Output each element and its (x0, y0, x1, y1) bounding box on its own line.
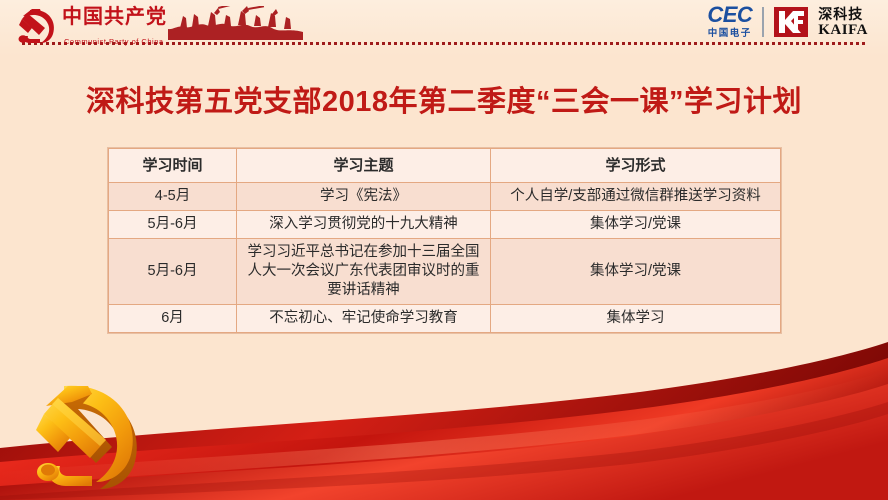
corporate-logo-group: CEC 中国电子 深科技 KAIFA (707, 4, 868, 40)
cell-topic: 学习习近平总书记在参加十三届全国人大一次会议广东代表团审议时的重要讲话精神 (237, 239, 491, 305)
revolutionary-crowd-silhouette-icon (168, 6, 303, 40)
logo-divider (762, 7, 764, 37)
cpc-name-chinese: 中国共产党 (62, 5, 167, 30)
table-header-row: 学习时间 学习主题 学习形式 (109, 149, 781, 183)
table-row: 5月-6月 学习习近平总书记在参加十三届全国人大一次会议广东代表团审议时的重要讲… (109, 239, 781, 305)
kaifa-name-chinese: 深科技 (818, 6, 868, 22)
kaifa-wordmark: 深科技 KAIFA (818, 6, 868, 39)
cec-chinese-name: 中国电子 (707, 27, 752, 40)
table-row: 5月-6月 深入学习贯彻党的十九大精神 集体学习/党课 (109, 211, 781, 239)
cpc-logo: 中国共产党 Communist Party of China (14, 5, 167, 51)
cell-form: 集体学习 (491, 305, 781, 333)
cell-time: 5月-6月 (109, 239, 237, 305)
cec-logo: CEC 中国电子 (707, 4, 752, 40)
cell-time: 6月 (109, 305, 237, 333)
column-header-topic: 学习主题 (237, 149, 491, 183)
presentation-slide: 中国共产党 Communist Party of China CEC 中国电子 … (0, 0, 888, 500)
cell-time: 5月-6月 (109, 211, 237, 239)
table-row: 4-5月 学习《宪法》 个人自学/支部通过微信群推送学习资料 (109, 183, 781, 211)
cell-topic: 深入学习贯彻党的十九大精神 (237, 211, 491, 239)
cell-time: 4-5月 (109, 183, 237, 211)
column-header-time: 学习时间 (109, 149, 237, 183)
table-row: 6月 不忘初心、牢记使命学习教育 集体学习 (109, 305, 781, 333)
study-plan-table: 学习时间 学习主题 学习形式 4-5月 学习《宪法》 个人自学/支部通过微信群推… (108, 148, 781, 333)
cpc-name-english: Communist Party of China (64, 36, 167, 47)
kaifa-name-english: KAIFA (818, 22, 868, 39)
cell-topic: 学习《宪法》 (237, 183, 491, 211)
hammer-sickle-icon (14, 5, 58, 47)
cell-form: 个人自学/支部通过微信群推送学习资料 (491, 183, 781, 211)
party-emblem-gold-icon (18, 374, 150, 496)
cec-wordmark: CEC (707, 4, 752, 26)
column-header-form: 学习形式 (491, 149, 781, 183)
kaifa-k-logo-icon (774, 7, 808, 37)
page-title: 深科技第五党支部2018年第二季度“三会一课”学习计划 (0, 78, 888, 120)
cell-form: 集体学习/党课 (491, 239, 781, 305)
cell-topic: 不忘初心、牢记使命学习教育 (237, 305, 491, 333)
cell-form: 集体学习/党课 (491, 211, 781, 239)
